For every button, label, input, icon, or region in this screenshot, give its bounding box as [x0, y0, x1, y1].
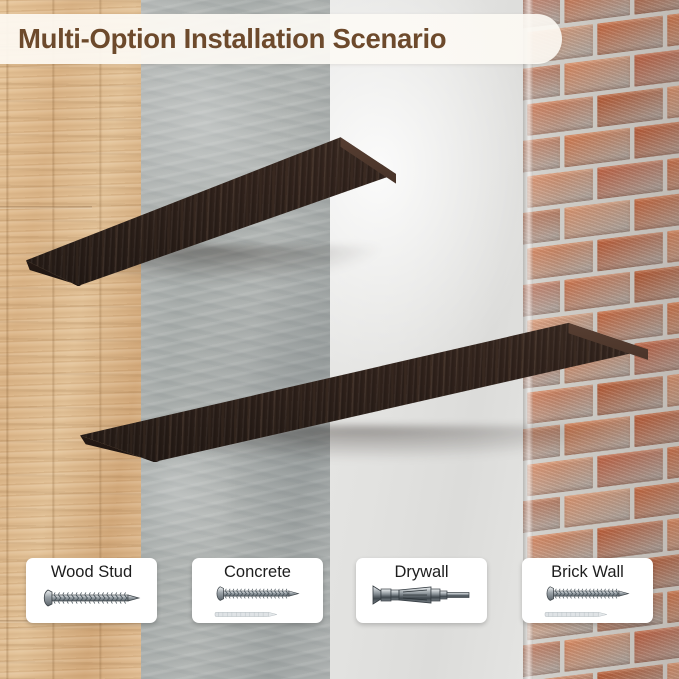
installation-option-badges: Wood StudConcreteDrywallBrick Wall	[0, 558, 679, 624]
installation-badge-drywall[interactable]: Drywall	[356, 558, 487, 623]
molly-bolt-icon	[369, 583, 475, 612]
upper-floating-shelf	[26, 126, 396, 286]
installation-badge-wood-stud[interactable]: Wood Stud	[26, 558, 157, 623]
screw-and-plug-icon	[536, 585, 640, 626]
wood-screw-icon	[543, 585, 632, 602]
badge-label: Wood Stud	[51, 562, 132, 582]
screw-and-plug-icon	[206, 585, 310, 626]
wood-screw-icon	[40, 588, 144, 608]
title-banner: Multi-Option Installation Scenario	[0, 14, 562, 64]
wall-plug-icon	[213, 610, 280, 619]
badge-label: Concrete	[224, 562, 291, 582]
page-title: Multi-Option Installation Scenario	[18, 23, 446, 55]
installation-badge-brick-wall[interactable]: Brick Wall	[522, 558, 653, 623]
wall-plug-icon	[543, 610, 610, 619]
molly-bolt-icon	[369, 583, 475, 607]
installation-badge-concrete[interactable]: Concrete	[192, 558, 323, 623]
wood-screw-icon	[213, 585, 302, 602]
lower-floating-shelf	[80, 314, 648, 462]
badge-label: Brick Wall	[551, 562, 624, 582]
product-image: Multi-Option Installation Scenario Wood …	[0, 0, 679, 679]
badge-label: Drywall	[394, 562, 448, 582]
wood-screw-icon	[40, 588, 144, 613]
